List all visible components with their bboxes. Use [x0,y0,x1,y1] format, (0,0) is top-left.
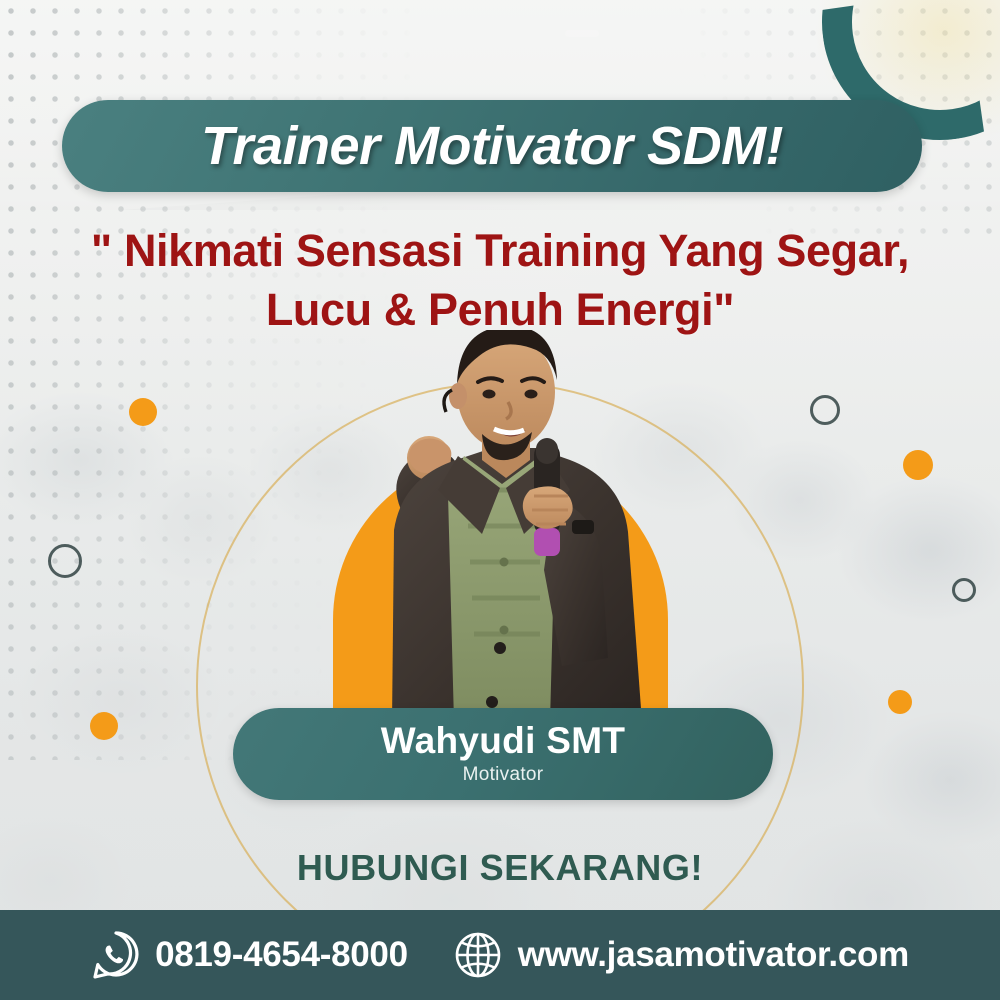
orange-dot-decoration [903,450,933,480]
website-contact[interactable]: www.jasamotivator.com [452,929,909,981]
headline-line-1: " Nikmati Sensasi Training Yang Segar, [91,225,909,276]
footer-contact-bar: 0819-4654-8000 www.jasamotivator.com [0,910,1000,1000]
title-banner: Trainer Motivator SDM! [62,100,922,192]
title-text: Trainer Motivator SDM! [201,115,783,177]
speaker-name-badge: Wahyudi SMT Motivator [233,708,773,800]
speaker-photo [286,330,716,760]
phone-contact[interactable]: 0819-4654-8000 [91,929,408,981]
website-url: www.jasamotivator.com [518,935,909,975]
speaker-name: Wahyudi SMT [381,722,625,760]
headline-line-2: Lucu & Penuh Energi" [0,281,1000,340]
headline-quote: " Nikmati Sensasi Training Yang Segar, L… [0,222,1000,339]
whatsapp-icon [91,929,141,981]
poster-canvas: ost kebaikan untuk semua [0,0,1000,1000]
orange-dot-decoration [888,690,912,714]
orange-dot-decoration [129,398,157,426]
ring-outline-decoration [810,395,840,425]
phone-number: 0819-4654-8000 [155,935,408,975]
globe-icon [452,929,504,981]
ring-outline-decoration [952,578,976,602]
cta-text: HUBUNGI SEKARANG! [0,847,1000,889]
speaker-role: Motivator [463,764,544,786]
orange-dot-decoration [90,712,118,740]
ring-outline-decoration [48,544,82,578]
